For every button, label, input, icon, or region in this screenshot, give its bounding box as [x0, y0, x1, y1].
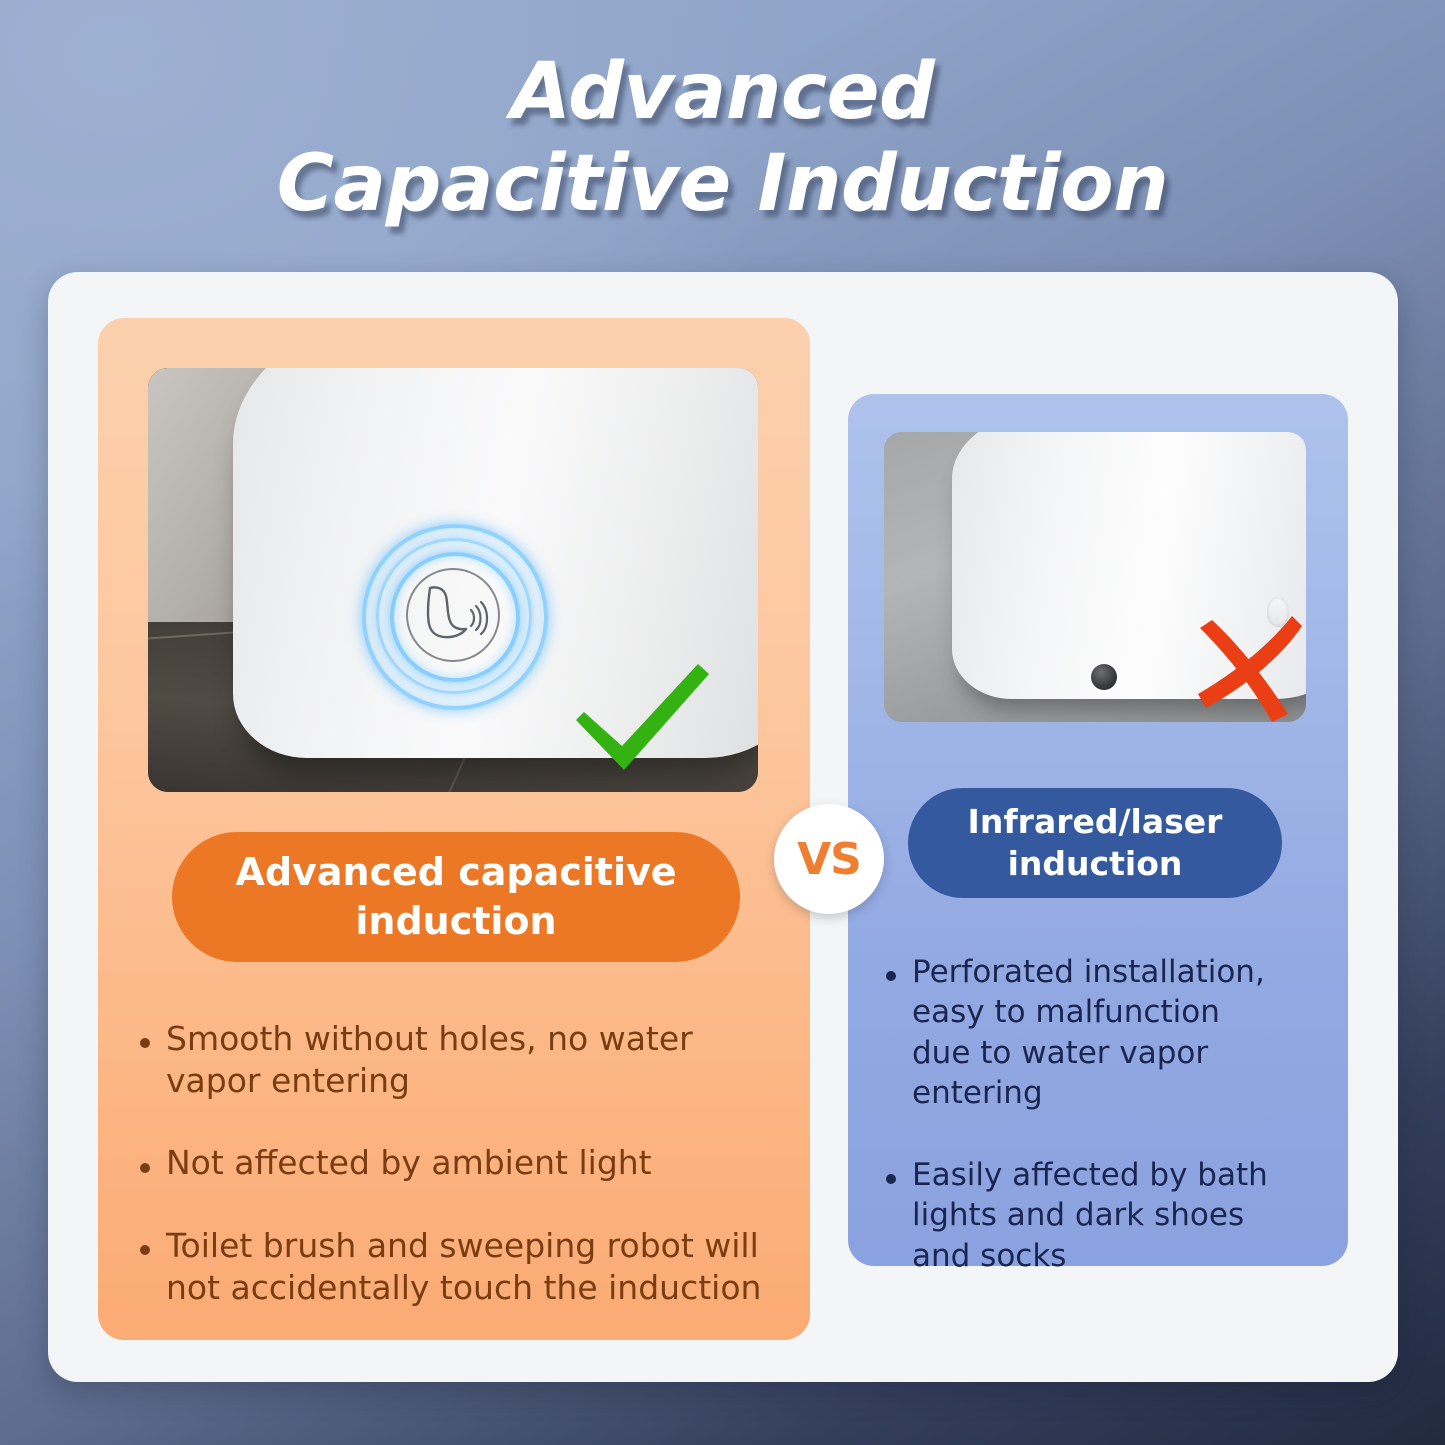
foot-sensor-icon	[406, 568, 500, 662]
infrared-laser-bullets: Perforated installation, easy to malfunc…	[876, 952, 1288, 1318]
list-item: Easily affected by bath lights and dark …	[876, 1155, 1288, 1276]
vs-badge-label: VS	[797, 834, 861, 885]
check-mark-icon	[566, 658, 716, 778]
infrared-laser-pill[interactable]: Infrared/laser induction	[908, 788, 1282, 898]
list-item: Toilet brush and sweeping robot will not…	[130, 1225, 770, 1309]
capacitive-sensor-photo	[148, 368, 758, 792]
list-item: Smooth without holes, no water vapor ent…	[130, 1018, 770, 1102]
list-item: Not affected by ambient light	[130, 1142, 770, 1184]
cross-mark-icon	[1192, 610, 1302, 722]
foot-glyph-icon	[416, 580, 490, 650]
page-title: Advanced Capacitive Induction	[0, 46, 1445, 230]
advanced-capacitive-bullets: Smooth without holes, no water vapor ent…	[130, 1018, 770, 1349]
infrared-sensor-photo	[884, 432, 1306, 722]
infographic-page: Advanced Capacitive Induction	[0, 0, 1445, 1445]
capacitive-ring-glow	[362, 524, 548, 710]
infrared-sensor-hole	[1091, 664, 1117, 690]
vs-badge: VS	[774, 804, 884, 914]
list-item: Perforated installation, easy to malfunc…	[876, 952, 1288, 1113]
advanced-capacitive-pill[interactable]: Advanced capacitive induction	[172, 832, 740, 962]
